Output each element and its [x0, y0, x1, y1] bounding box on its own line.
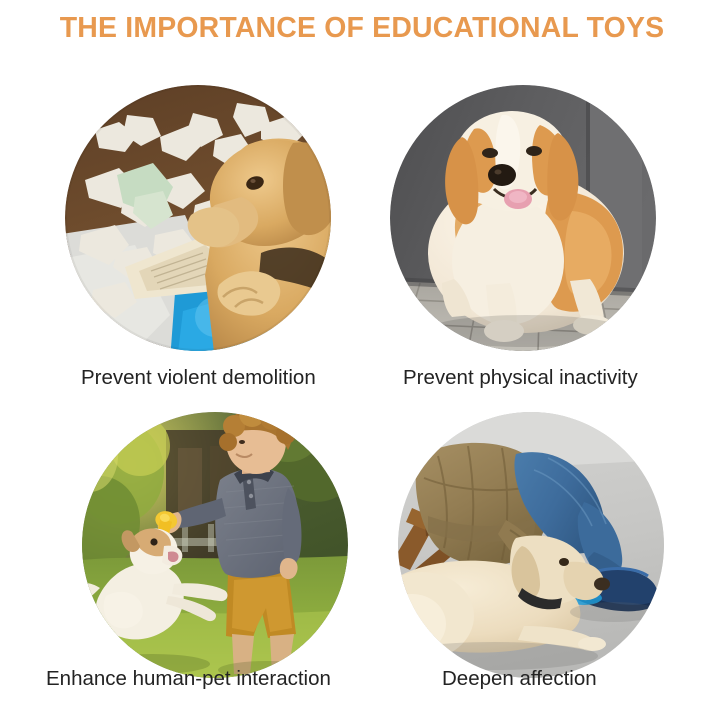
card-caption: Enhance human-pet interaction [46, 667, 331, 691]
card-enhance-human-pet-interaction: Enhance human-pet interaction [82, 412, 348, 678]
page-title: THE IMPORTANCE OF EDUCATIONAL TOYS [7, 12, 717, 45]
card-prevent-violent-demolition: Prevent violent demolition [65, 85, 331, 351]
card-prevent-physical-inactivity: Prevent physical inactivity [390, 85, 656, 351]
card-deepen-affection: Deepen affection [398, 412, 664, 678]
dog-shredding-paper-photo [65, 85, 331, 351]
card-caption: Prevent violent demolition [81, 366, 316, 390]
boy-playing-with-dog-photo [82, 412, 348, 678]
overweight-beagle-photo [390, 85, 656, 351]
infographic-root: THE IMPORTANCE OF EDUCATIONAL TOYS [0, 0, 724, 721]
person-petting-dog-photo [398, 412, 664, 678]
card-caption: Deepen affection [442, 667, 597, 691]
card-caption: Prevent physical inactivity [403, 366, 638, 390]
